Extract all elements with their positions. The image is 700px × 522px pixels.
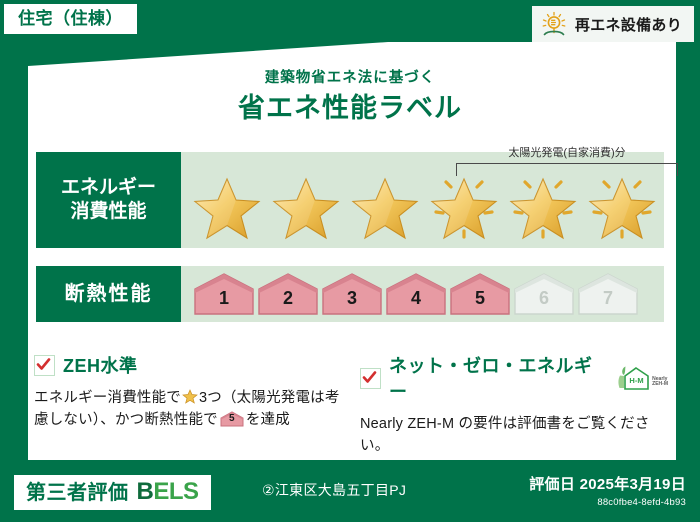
zeh-desc-part1: エネルギー消費性能で (34, 390, 181, 406)
zeh-standard-block: ZEH水準 エネルギー消費性能で 3つ（太陽光発電は考慮しない）、かつ断熱性能で… (34, 352, 346, 432)
solar-annotation-label: 太陽光発電(自家消費)分 (456, 148, 678, 159)
insulation-level-number: 2 (257, 289, 319, 307)
zeh-standard-title: ZEH水準 (63, 352, 138, 378)
bels-wordmark: BELS (137, 480, 199, 504)
energy-star-solar (584, 168, 660, 240)
insulation-level-marker: 4 (385, 272, 447, 316)
net-zero-energy-description: Nearly ZEH-M の要件は評価書をご覧ください。 (360, 413, 668, 458)
energy-star-solar (505, 168, 581, 240)
insulation-level-icon: 5 (220, 411, 244, 427)
insulation-level-icon-number: 5 (220, 414, 244, 424)
energy-performance-body: 太陽光発電(自家消費)分 (181, 152, 664, 248)
insulation-level-marker: 2 (257, 272, 319, 316)
star-icon (182, 389, 198, 404)
insulation-level-marker: 6 (513, 272, 575, 316)
evaluation-date: 評価日 2025年3月19日 (529, 473, 686, 494)
bels-japanese-label: 第三者評価 (26, 483, 129, 503)
evaluation-meta: 評価日 2025年3月19日 88c0fbe4-8efd-4b93 (529, 473, 686, 508)
net-zero-energy-block: ネット・ゼロ・エネルギー H-M Nearly ZEH-M Nearly ZEH… (360, 352, 668, 458)
energy-star (347, 168, 423, 240)
building-type-chip: 住宅（住棟） (4, 4, 137, 34)
insulation-level-marker-achieved: 5 (449, 272, 511, 316)
energy-star-solar (426, 168, 502, 240)
project-name: ②江東区大島五丁目PJ (262, 480, 406, 500)
red-check-icon (360, 368, 381, 389)
net-zero-energy-heading: ネット・ゼロ・エネルギー H-M Nearly ZEH-M (360, 352, 668, 404)
solar-energy-icon (540, 11, 568, 37)
insulation-level-marker: 1 (193, 272, 255, 316)
energy-star-rating (181, 168, 660, 240)
insulation-level-number: 6 (513, 289, 575, 307)
insulation-level-number: 5 (449, 289, 511, 307)
energy-performance-row: エネルギー 消費性能 太陽光発電(自家消費)分 (36, 152, 664, 248)
energy-star (189, 168, 265, 240)
renewable-equipment-badge: 再エネ設備あり (532, 6, 694, 42)
zeh-m-caption-line2: ZEH-M (652, 381, 668, 387)
energy-star (268, 168, 344, 240)
insulation-performance-body: 1 2 3 (181, 266, 664, 322)
insulation-level-number: 7 (577, 289, 639, 307)
insulation-performance-row: 断熱性能 1 2 (36, 266, 664, 322)
zeh-desc-part3: を達成 (246, 412, 290, 428)
energy-header-line1: エネルギー (61, 176, 156, 200)
red-check-icon (34, 355, 55, 376)
zeh-desc-star-count: 3つ（太陽光発電 (199, 390, 310, 406)
label-subtitle: 建築物省エネ法に基づく (0, 66, 700, 87)
net-zero-energy-title: ネット・ゼロ・エネルギー (389, 352, 602, 404)
zeh-m-logo: H-M Nearly ZEH-M (616, 365, 668, 391)
insulation-level-scale: 1 2 3 (181, 272, 639, 316)
label-title: 省エネ性能ラベル (0, 86, 700, 125)
bels-letters-els: ELS (153, 478, 198, 505)
insulation-level-number: 3 (321, 289, 383, 307)
energy-label-root: 住宅（住棟） 再エネ設備あり 建築物省エネ法に基づ (0, 0, 700, 522)
insulation-performance-header: 断熱性能 (36, 266, 181, 322)
insulation-level-marker: 7 (577, 272, 639, 316)
svg-text:H-M: H-M (630, 376, 644, 385)
evaluation-id: 88c0fbe4-8efd-4b93 (529, 497, 686, 508)
zeh-standard-description: エネルギー消費性能で 3つ（太陽光発電は考慮しない）、かつ断熱性能で 5 を達成 (34, 387, 346, 432)
energy-performance-header: エネルギー 消費性能 (36, 152, 181, 248)
insulation-level-marker: 3 (321, 272, 383, 316)
bels-letter-b: B (137, 478, 154, 505)
insulation-level-number: 1 (193, 289, 255, 307)
bels-certification-chip: 第三者評価 BELS (14, 475, 211, 510)
renewable-badge-label: 再エネ設備あり (575, 14, 682, 35)
insulation-level-number: 4 (385, 289, 447, 307)
zeh-m-logo-caption: Nearly ZEH-M (652, 377, 668, 392)
zeh-standard-heading: ZEH水準 (34, 352, 346, 378)
energy-header-line2: 消費性能 (70, 200, 146, 224)
